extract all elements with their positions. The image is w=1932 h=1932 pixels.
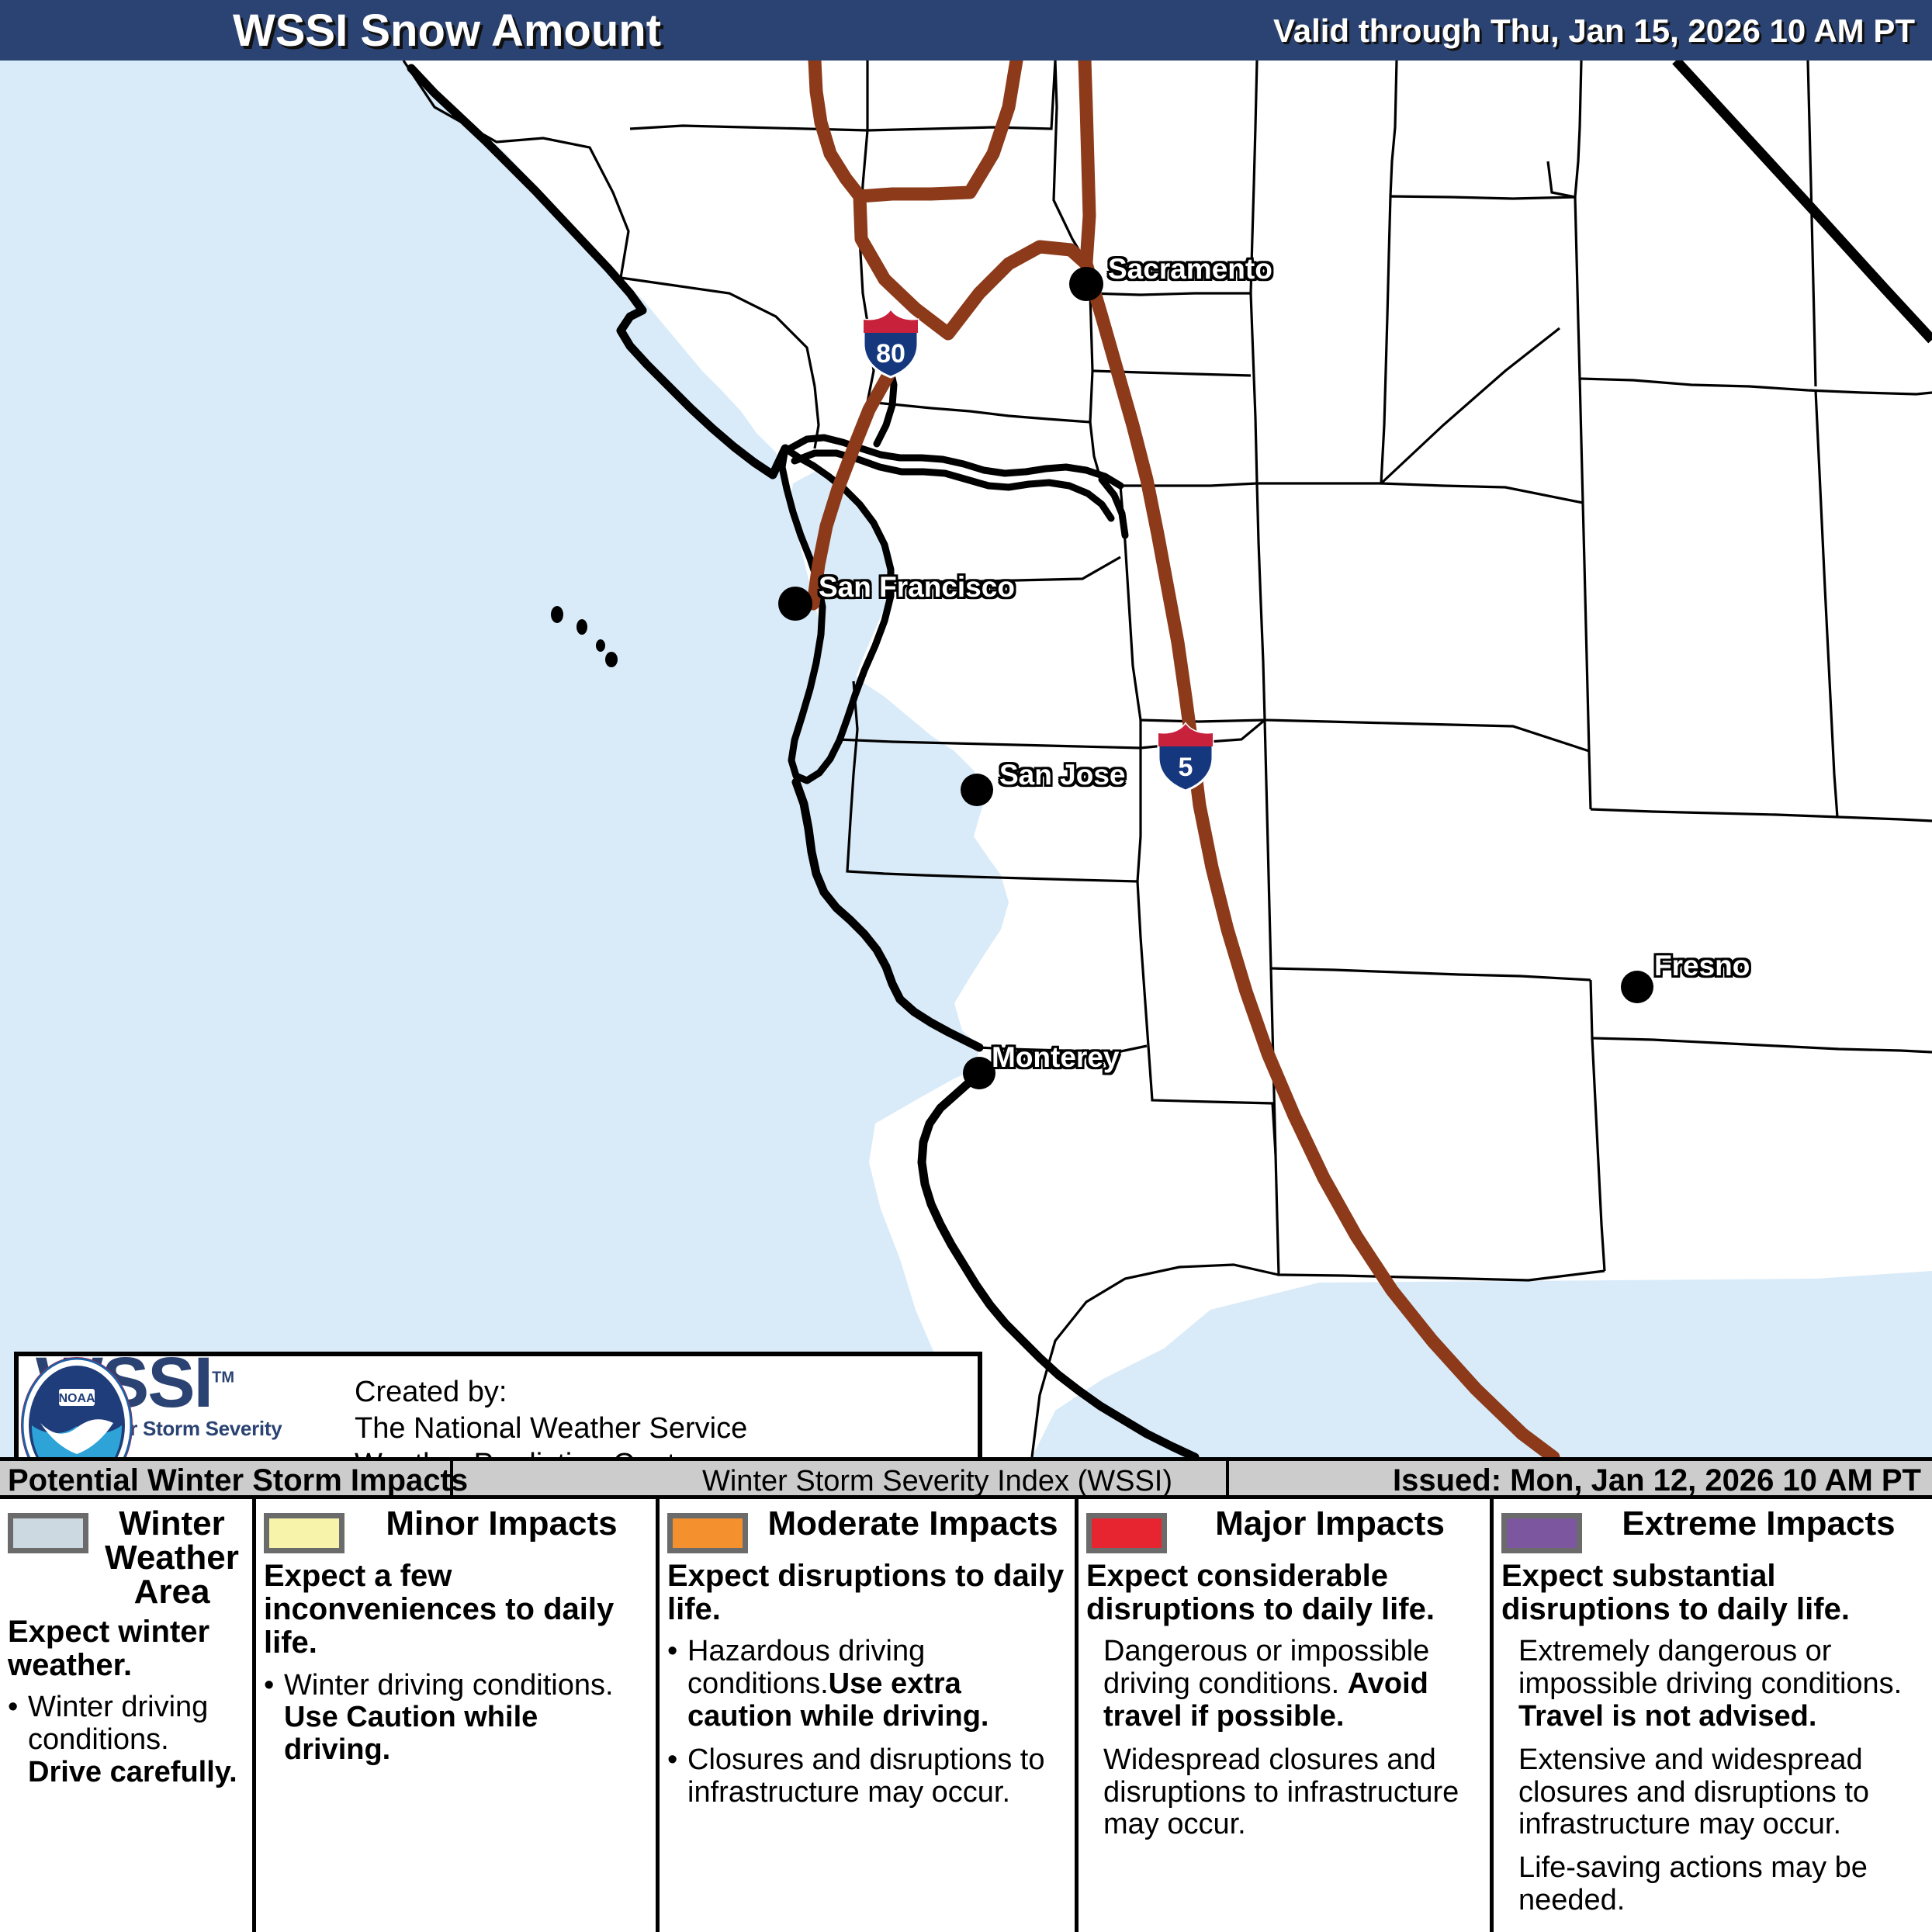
legend-category-name: Major Impacts [1178,1507,1482,1541]
created-by-text: Created by: The National Weather Service… [355,1374,747,1457]
legend-bullet-list: •Dangerous or impossible driving conditi… [1086,1636,1482,1841]
city-dot [1621,971,1653,1003]
legend-bullet-list: •Hazardous driving conditions.Use extra … [667,1636,1067,1809]
legend-bullet-text: Dangerous or impossible driving conditio… [1103,1636,1482,1733]
bullet-dot-icon: • [667,1636,687,1668]
legend-color-swatch [1501,1513,1582,1553]
legend-column-major-impacts[interactable]: Major ImpactsExpect considerable disrupt… [1079,1499,1494,1932]
legend-summary: Expect a few inconveniences to daily lif… [264,1560,648,1660]
issued-label: Issued: Mon, Jan 12, 2026 10 AM PT [1393,1463,1921,1498]
legend-bullet-text: Extremely dangerous or impossible drivin… [1518,1636,1924,1733]
legend-color-swatch [667,1513,748,1553]
svg-text:5: 5 [1179,753,1193,782]
interstate-shield-icon: 80 [857,308,924,379]
legend-summary: Expect considerable disruptions to daily… [1086,1560,1482,1626]
legend-bullet-item: •Hazardous driving conditions.Use extra … [667,1636,1067,1733]
bullet-dot-icon: • [667,1744,687,1777]
legend-category-name: Winter Weather Area [99,1507,244,1609]
noaa-seal-icon: NOAA [19,1356,135,1457]
legend-header: Extreme Impacts [1501,1507,1924,1553]
legend-column-extreme-impacts[interactable]: Extreme ImpactsExpect substantial disrup… [1494,1499,1932,1932]
legend-bullet-text: Extensive and widespread closures and di… [1518,1744,1924,1841]
legend-summary: Expect winter weather. [8,1615,244,1682]
impact-legend: Winter Weather AreaExpect winter weather… [0,1499,1932,1932]
wssi-trademark: TM [212,1369,234,1386]
legend-bullet-item: •Extensive and widespread closures and d… [1501,1744,1924,1841]
status-bar-divider-1 [450,1461,453,1495]
wssi-logo-box: WSSITM The Winter Storm Severity Index [14,1352,982,1457]
legend-bullet-item: •Extremely dangerous or impossible drivi… [1501,1636,1924,1733]
legend-header: Winter Weather Area [8,1507,244,1609]
legend-header: Major Impacts [1086,1507,1482,1553]
legend-color-swatch [8,1513,88,1553]
legend-bullet-list: •Extremely dangerous or impossible drivi… [1501,1636,1924,1916]
created-by-line-0: Created by: [355,1374,747,1410]
impacts-status-bar: Potential Winter Storm Impacts Winter St… [0,1457,1932,1499]
created-by-line-2: Weather Prediction Center [355,1446,747,1457]
legend-bullet-text: Hazardous driving conditions.Use extra c… [687,1636,1067,1733]
legend-bullet-item: •Life-saving actions may be needed. [1501,1852,1924,1917]
legend-category-name: Moderate Impacts [759,1507,1067,1541]
legend-bullet-item: •Closures and disruptions to infrastruct… [667,1744,1067,1809]
svg-text:NOAA: NOAA [58,1392,95,1405]
legend-bullet-list: •Winter driving conditions. Use Caution … [264,1670,648,1767]
map-geometry [0,61,1932,1457]
legend-category-name: Minor Impacts [355,1507,648,1541]
legend-bullet-item: •Winter driving conditions. Use Caution … [264,1670,648,1767]
legend-bullet-text: Closures and disruptions to infrastructu… [687,1744,1067,1809]
legend-column-minor-impacts[interactable]: Minor ImpactsExpect a few inconveniences… [256,1499,660,1932]
legend-column-moderate-impacts[interactable]: Moderate ImpactsExpect disruptions to da… [660,1499,1079,1932]
legend-bullet-text: Widespread closures and disruptions to i… [1103,1744,1482,1841]
legend-column-winter-weather-area[interactable]: Winter Weather AreaExpect winter weather… [0,1499,256,1932]
page-title: WSSI Snow Amount [233,5,661,57]
legend-bullet-text: Winter driving conditions. Drive careful… [28,1691,244,1788]
potential-impacts-label: Potential Winter Storm Impacts [8,1463,468,1498]
legend-summary: Expect disruptions to daily life. [667,1560,1067,1626]
legend-bullet-item: •Widespread closures and disruptions to … [1086,1744,1482,1841]
valid-through-label: Valid through Thu, Jan 15, 2026 10 AM PT [1273,12,1915,50]
legend-header: Moderate Impacts [667,1507,1067,1553]
legend-header: Minor Impacts [264,1507,648,1553]
city-dot [778,587,812,621]
wssi-snow-amount-map-page: WSSI Snow Amount Valid through Thu, Jan … [0,0,1932,1932]
legend-bullet-text: Winter driving conditions. Use Caution w… [284,1670,648,1767]
legend-bullet-item: •Dangerous or impossible driving conditi… [1086,1636,1482,1733]
bullet-dot-icon: • [8,1691,28,1724]
legend-summary: Expect substantial disruptions to daily … [1501,1560,1924,1626]
wssi-fullname-label: Winter Storm Severity Index (WSSI) [702,1465,1172,1498]
created-by-line-1: The National Weather Service [355,1411,747,1446]
legend-bullet-list: •Winter driving conditions. Drive carefu… [8,1691,244,1788]
svg-text:80: 80 [876,339,905,369]
legend-bullet-text: Life-saving actions may be needed. [1518,1852,1924,1917]
bullet-dot-icon: • [264,1670,284,1702]
legend-color-swatch [264,1513,345,1553]
legend-category-name: Extreme Impacts [1593,1507,1924,1541]
legend-bullet-item: •Winter driving conditions. Drive carefu… [8,1691,244,1788]
city-dot [963,1057,995,1089]
city-dot [1069,267,1103,301]
status-bar-divider-2 [1226,1461,1229,1495]
city-dot [961,774,993,806]
page-header: WSSI Snow Amount Valid through Thu, Jan … [0,0,1932,61]
map-canvas[interactable]: SacramentoSan FranciscoSan JoseFresnoMon… [0,61,1932,1457]
interstate-shield-icon: 5 [1152,722,1219,793]
legend-color-swatch [1086,1513,1167,1553]
